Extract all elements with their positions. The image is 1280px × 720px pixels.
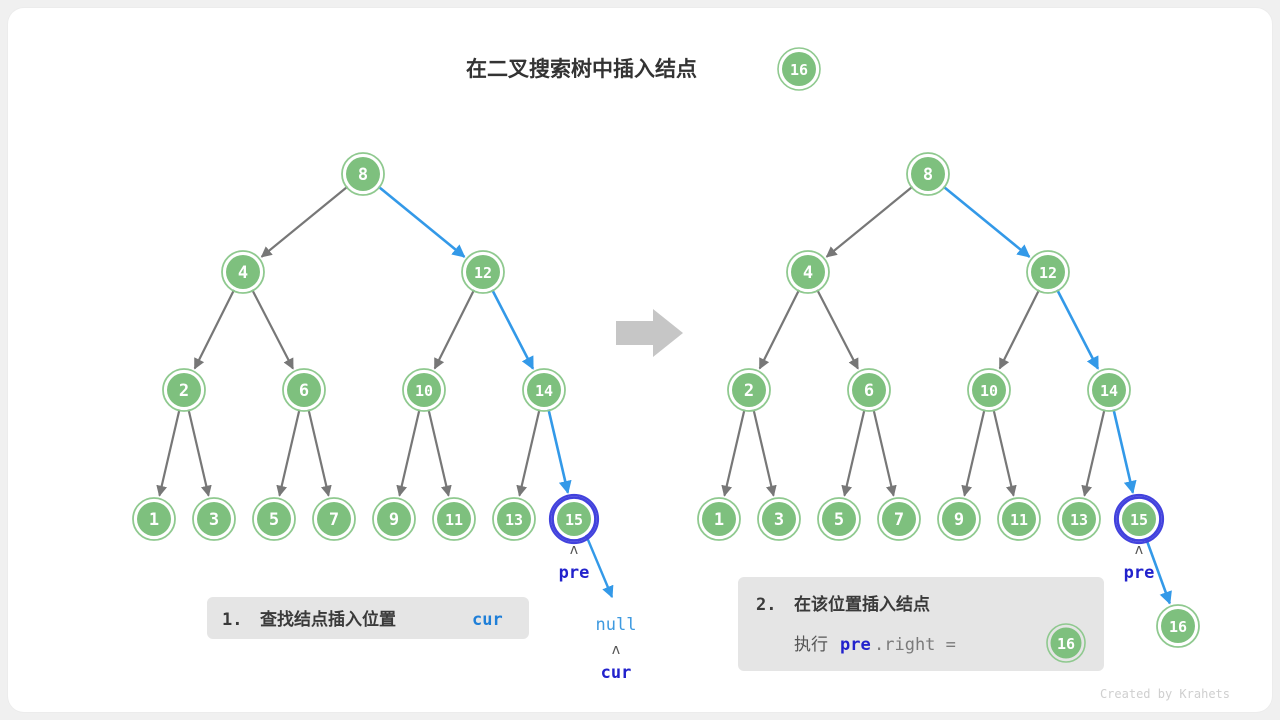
credit-text: Created by Krahets [1100, 687, 1230, 701]
node-label: 4 [803, 263, 813, 283]
tree-edge [844, 409, 864, 495]
left-tree-node-2[interactable]: 2 [163, 369, 205, 411]
left-tree-node-1[interactable]: 1 [133, 498, 175, 540]
tree-edge [817, 290, 858, 369]
diagram-canvas: 在二叉搜索树中插入结点 16 ʌ pre null ʌ cur ʌ pre [8, 8, 1272, 712]
node-label: 13 [505, 511, 523, 529]
caption-right-badge-label: 16 [1057, 635, 1075, 653]
left-tree-node-12[interactable]: 12 [462, 251, 504, 293]
caption-right-number: 2. [756, 595, 776, 615]
tree-edge [724, 409, 744, 495]
node-label: 4 [238, 263, 248, 283]
left-tree-node-6[interactable]: 6 [283, 369, 325, 411]
arrow-right-icon [616, 309, 683, 357]
tree-edge [399, 409, 419, 495]
tree-edge [994, 409, 1014, 495]
tree-edge [159, 409, 179, 495]
tree-edge [549, 409, 568, 492]
page-title-text: 在二叉搜索树中插入结点 [466, 57, 697, 81]
right-tree-node-12[interactable]: 12 [1027, 251, 1069, 293]
left-tree-edges [159, 187, 567, 496]
right-tree-node-13[interactable]: 13 [1058, 498, 1100, 540]
node-label: 14 [535, 382, 553, 400]
right-tree-node-11[interactable]: 11 [998, 498, 1040, 540]
right-tree-node-9[interactable]: 9 [938, 498, 980, 540]
tree-edge [435, 290, 474, 369]
node-label: 13 [1070, 511, 1088, 529]
node-label: 10 [980, 382, 998, 400]
caption-right-line2-expr: .right = [874, 635, 956, 655]
tree-edge [252, 290, 293, 369]
node-label: 3 [209, 510, 219, 530]
left-null-label: null [596, 615, 637, 635]
right-tree-node-6[interactable]: 6 [848, 369, 890, 411]
node-label: 5 [269, 510, 279, 530]
node-label: 15 [565, 511, 583, 529]
tree-edge [189, 409, 209, 495]
left-tree-node-10[interactable]: 10 [403, 369, 445, 411]
node-label: 6 [299, 381, 309, 401]
node-label: 10 [415, 382, 433, 400]
right-tree-node-2[interactable]: 2 [728, 369, 770, 411]
tree-edge [943, 187, 1029, 257]
left-cur-label: cur [601, 663, 632, 683]
right-tree-node-7[interactable]: 7 [878, 498, 920, 540]
node-label: 8 [358, 165, 368, 185]
tree-edge [519, 409, 539, 495]
tree-edge [1114, 409, 1133, 492]
node-label: 11 [1010, 511, 1028, 529]
tree-edge [874, 409, 894, 495]
left-pre-caret: ʌ [570, 542, 578, 558]
node-label: 3 [774, 510, 784, 530]
right-tree-node-8[interactable]: 8 [907, 153, 949, 195]
left-null-marker: null ʌ cur [586, 535, 636, 683]
node-label: 2 [744, 381, 754, 401]
tree-edge [1084, 409, 1104, 495]
left-cur-caret: ʌ [612, 642, 620, 658]
right-tree-node-16[interactable]: 16 [1157, 605, 1199, 647]
node-label: 7 [329, 510, 339, 530]
node-label: 9 [954, 510, 964, 530]
node-label: 12 [1039, 264, 1057, 282]
left-tree-node-5[interactable]: 5 [253, 498, 295, 540]
tree-edge [309, 409, 329, 495]
caption-left-variable: cur [472, 610, 503, 630]
caption-right-line2-prefix: 执行 [794, 635, 828, 654]
page-title: 在二叉搜索树中插入结点 [466, 57, 697, 81]
tree-edge [279, 409, 299, 495]
node-label: 12 [474, 264, 492, 282]
caption-left-text: 查找结点插入位置 [259, 609, 396, 629]
right-tree-node-10[interactable]: 10 [968, 369, 1010, 411]
node-label: 8 [923, 165, 933, 185]
tree-edge [760, 290, 799, 369]
node-label: 11 [445, 511, 463, 529]
caption-right-line1: 在该位置插入结点 [794, 594, 930, 614]
left-tree-node-15[interactable]: 15 [550, 495, 598, 543]
tree-edge [827, 187, 913, 257]
left-tree-node-3[interactable]: 3 [193, 498, 235, 540]
node-label: 9 [389, 510, 399, 530]
right-tree-node-5[interactable]: 5 [818, 498, 860, 540]
left-tree-node-7[interactable]: 7 [313, 498, 355, 540]
left-tree-node-14[interactable]: 14 [523, 369, 565, 411]
node-label: 2 [179, 381, 189, 401]
left-tree-nodes: 841226101413579111315 [133, 153, 598, 543]
node-label: 14 [1100, 382, 1118, 400]
left-pre-pointer: ʌ pre [559, 542, 590, 583]
tree-edge [492, 290, 533, 369]
left-null-edge [586, 535, 612, 597]
title-badge-label: 16 [790, 61, 808, 79]
caption-right: 2. 在该位置插入结点 执行 pre .right = 16 [738, 577, 1104, 671]
node-label: 7 [894, 510, 904, 530]
left-tree-node-11[interactable]: 11 [433, 498, 475, 540]
left-tree-node-9[interactable]: 9 [373, 498, 415, 540]
caption-left-number: 1. [222, 610, 242, 630]
arrow-right-icon-shape [616, 309, 683, 357]
tree-edge [429, 409, 449, 495]
left-pre-label: pre [559, 563, 590, 583]
node-label: 16 [1169, 618, 1187, 636]
caption-left: 1. 查找结点插入位置 cur [207, 597, 529, 639]
right-tree-node-1[interactable]: 1 [698, 498, 740, 540]
left-tree-node-8[interactable]: 8 [342, 153, 384, 195]
left-tree-node-13[interactable]: 13 [493, 498, 535, 540]
tree-edge [964, 409, 984, 495]
caption-right-line2-var: pre [840, 635, 871, 655]
right-tree-node-3[interactable]: 3 [758, 498, 800, 540]
title-badge-node: 16 [778, 48, 820, 90]
node-label: 1 [714, 510, 724, 530]
diagram-card: 在二叉搜索树中插入结点 16 ʌ pre null ʌ cur ʌ pre [8, 8, 1272, 712]
node-label: 1 [149, 510, 159, 530]
tree-edge [1000, 290, 1039, 369]
left-tree-node-4[interactable]: 4 [222, 251, 264, 293]
tree-edge [378, 187, 464, 257]
node-label: 15 [1130, 511, 1148, 529]
caption-right-box [738, 577, 1104, 671]
right-pre-caret: ʌ [1135, 542, 1143, 558]
right-tree-node-4[interactable]: 4 [787, 251, 829, 293]
right-tree-node-15[interactable]: 15 [1115, 495, 1163, 543]
right-tree-node-14[interactable]: 14 [1088, 369, 1130, 411]
tree-edge [195, 290, 234, 369]
node-label: 6 [864, 381, 874, 401]
tree-edge [262, 187, 348, 257]
tree-edge [1057, 290, 1098, 369]
right-pre-label: pre [1124, 563, 1155, 583]
node-label: 5 [834, 510, 844, 530]
tree-edge [754, 409, 774, 495]
caption-right-badge-node: 16 [1047, 624, 1085, 662]
